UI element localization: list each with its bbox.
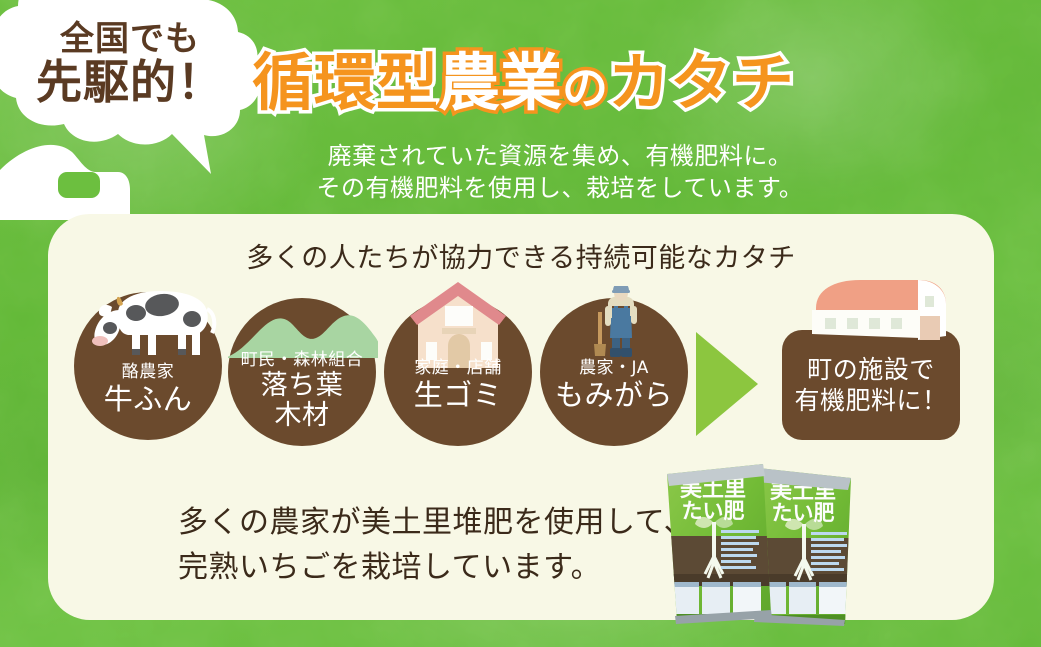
title-part-1: 循環型: [252, 46, 438, 119]
source-household-main: 生ゴミ: [384, 380, 532, 410]
badge-speech-bubble: 全国でも 先駆的！: [0, 0, 290, 188]
title-part-2: 農業: [438, 46, 562, 119]
source-forest-main-2: 木材: [228, 402, 376, 430]
card-heading: 多くの人たちが協力できる持続可能なカタチ: [48, 236, 994, 275]
source-cow-main: 牛ふん: [74, 384, 222, 414]
bottom-line-1: 多くの農家が美土里堆肥を使用して、: [178, 500, 698, 545]
subtitle-line-2: その有機肥料を使用し、栽培をしています。: [250, 172, 870, 204]
title-part-4: カタチ: [608, 46, 794, 119]
facility-line-2: 有機肥料に！: [794, 385, 947, 416]
source-farmer-sub: 農家・JA: [540, 360, 688, 378]
source-household-sub: 家庭・店舗: [384, 360, 532, 378]
infographic-root: 全国でも 先駆的！ 循環型農業のカタチ 廃棄されていた資源を集め、有機肥料に。 …: [0, 0, 1041, 647]
badge-line-1: 全国でも: [60, 22, 200, 56]
house-icon: [396, 280, 520, 368]
source-cow-sub: 酪農家: [74, 364, 222, 382]
fertilizer-bags-icon: 美土里 たい肥: [655, 452, 870, 627]
source-farmer-main: もみがら: [540, 380, 688, 410]
svg-text:たい肥: たい肥: [772, 501, 835, 525]
badge-text: 全国でも 先駆的！: [0, 0, 270, 138]
arrow-right-icon: [696, 332, 758, 436]
title-part-3: の: [562, 61, 608, 115]
facility-line-1: 町の施設で: [807, 354, 935, 385]
badge-line-2: 先駆的！: [36, 59, 224, 105]
mountains-icon: [228, 298, 378, 358]
subtitle-line-1: 廃棄されていた資源を集め、有機肥料に。: [250, 140, 870, 172]
source-forest-main-1: 落ち葉: [228, 372, 376, 400]
bottom-line-2: 完熟いちごを栽培しています。: [178, 545, 698, 590]
svg-text:たい肥: たい肥: [682, 499, 745, 523]
cow-icon: [74, 283, 224, 355]
page-title: 循環型農業のカタチ: [252, 52, 862, 132]
facility-box: 町の施設で 有機肥料に！: [782, 330, 960, 440]
bottom-description: 多くの農家が美土里堆肥を使用して、 完熟いちごを栽培しています。: [178, 500, 698, 590]
farmer-icon: [588, 286, 644, 362]
source-forest-sub: 町民・森林組合: [228, 352, 376, 370]
subtitle: 廃棄されていた資源を集め、有機肥料に。 その有機肥料を使用し、栽培をしています。: [250, 140, 870, 205]
barn-icon: [800, 278, 962, 344]
